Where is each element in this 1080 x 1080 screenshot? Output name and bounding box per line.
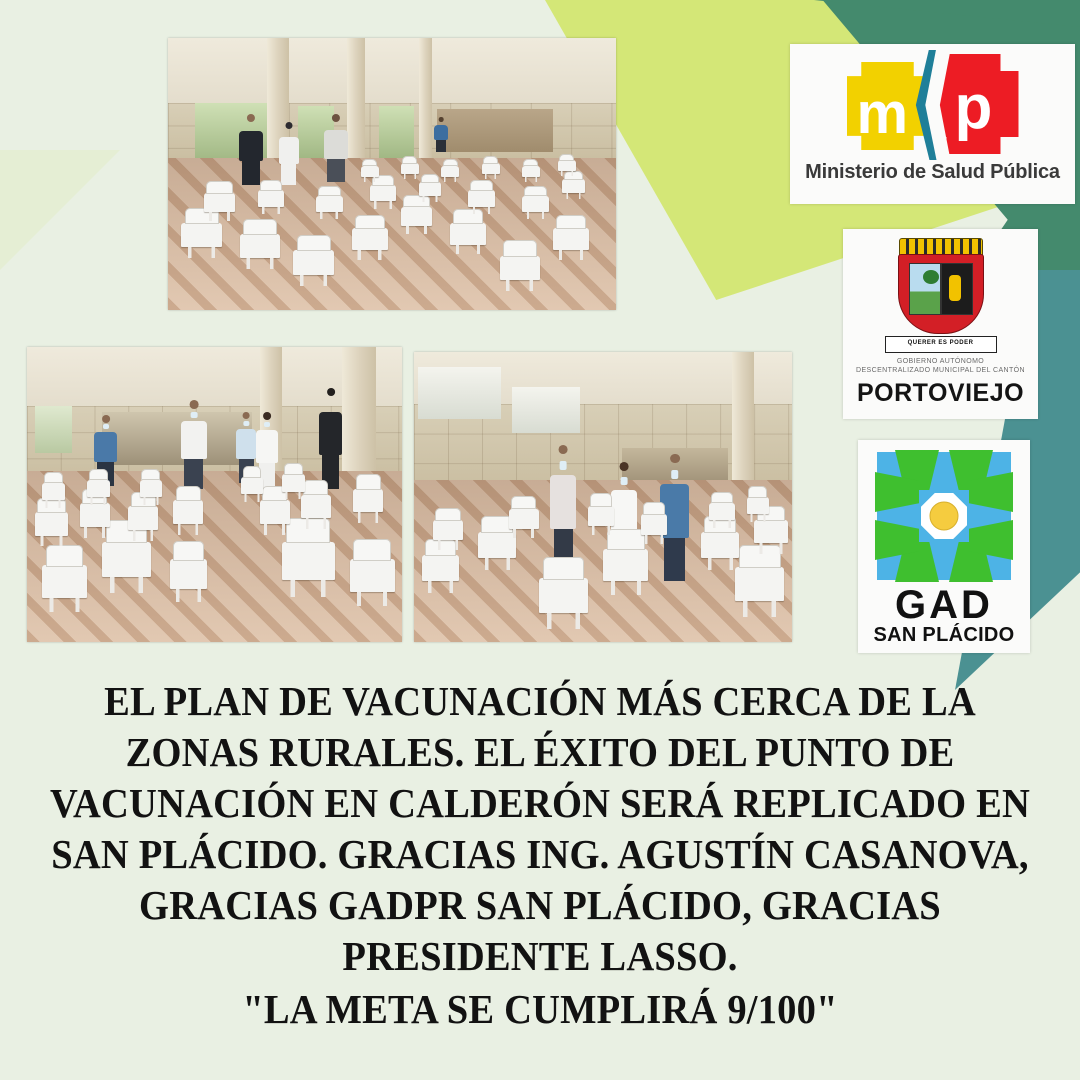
portoviejo-name: PORTOVIEJO — [843, 379, 1038, 408]
person — [546, 445, 580, 573]
headline-line-6: PRESIDENTE LASSO. — [32, 931, 1047, 982]
motto-right: PODER — [950, 340, 974, 346]
msp-letter-p: p — [955, 82, 993, 134]
logo-ministerio-salud-publica: m p Ministerio de Salud Pública — [790, 44, 1075, 204]
bottom-left-photo — [27, 347, 402, 642]
person — [235, 114, 266, 185]
person — [316, 388, 346, 488]
poster-canvas: m p Ministerio de Salud Pública QUERER E… — [0, 0, 1080, 1080]
person — [276, 122, 303, 185]
portoviejo-subtitle: GOBIERNO AUTÓNOMO DESCENTRALIZADO MUNICI… — [843, 357, 1038, 375]
headline-text: EL PLAN DE VACUNACIÓN MÁS CERCA DE LA ZO… — [32, 676, 1047, 1035]
gad-title: GAD — [858, 586, 1030, 624]
msp-logo-icon: m p — [843, 52, 1023, 157]
top-photo — [168, 38, 616, 310]
lime-corner-shape — [0, 150, 120, 270]
portoviejo-subtitle-line2: DESCENTRALIZADO MUNICIPAL DEL CANTÓN — [843, 366, 1038, 375]
headline-line-2: ZONAS RURALES. EL ÉXITO DEL PUNTO DE — [32, 727, 1047, 778]
headline-quote: "LA META SE CUMPLIRÁ 9/100" — [32, 984, 1047, 1035]
sun-icon — [930, 502, 959, 531]
logo-portoviejo: QUERER ES PODER GOBIERNO AUTÓNOMO DESCEN… — [843, 229, 1038, 419]
person — [177, 400, 211, 489]
motto-left: QUERER — [908, 340, 937, 346]
headline-line-4: SAN PLÁCIDO. GRACIAS ING. AGUSTÍN CASANO… — [32, 829, 1047, 880]
headline-line-3: VACUNACIÓN EN CALDERÓN SERÁ REPLICADO EN — [32, 778, 1047, 829]
motto-banner: QUERER ES PODER — [885, 336, 997, 353]
portoviejo-subtitle-line1: GOBIERNO AUTÓNOMO — [843, 357, 1038, 366]
logo-gad-san-placido: GAD SAN PLÁCIDO — [858, 440, 1030, 653]
person — [320, 114, 351, 182]
gad-subtitle: SAN PLÁCIDO — [858, 624, 1030, 646]
msp-caption: Ministerio de Salud Pública — [790, 161, 1075, 184]
msp-letter-m: m — [857, 92, 909, 136]
headline-line-1: EL PLAN DE VACUNACIÓN MÁS CERCA DE LA — [32, 676, 1047, 727]
bottom-right-photo — [414, 352, 792, 642]
shield-icon — [898, 254, 984, 334]
motto-center: ES — [938, 340, 947, 346]
gad-emblem-icon — [869, 446, 1019, 586]
person — [432, 117, 450, 152]
headline-line-5: GRACIAS GADPR SAN PLÁCIDO, GRACIAS — [32, 880, 1047, 931]
